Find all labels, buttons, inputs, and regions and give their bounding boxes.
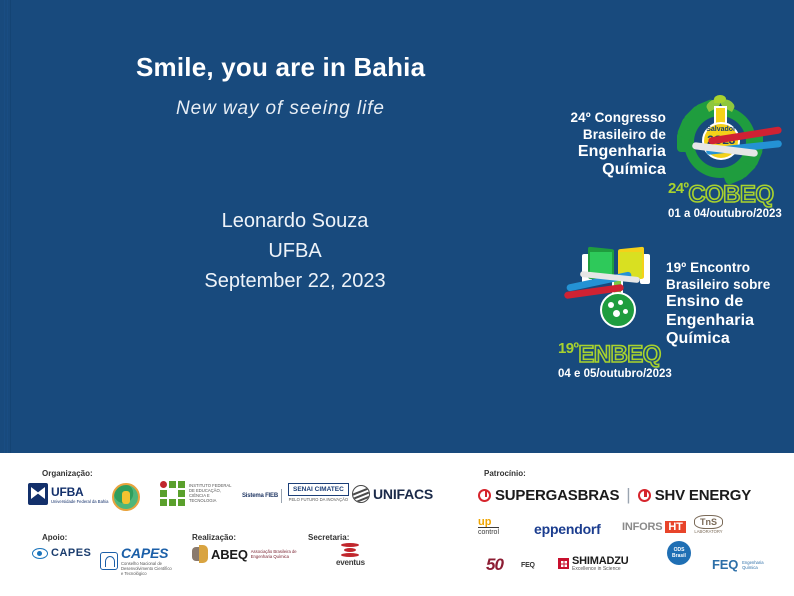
feq-50-number: 50 (486, 555, 503, 575)
author-block: Leonardo Souza UFBA September 22, 2023 (120, 206, 470, 296)
slide-subtitle: New way of seeing life (176, 98, 385, 120)
globe-logo (112, 483, 143, 511)
ifba-logo: INSTITUTO FEDERAL DE EDUCAÇÃO, CIÊNCIA E… (160, 481, 235, 505)
shv-energy-logo: SHV ENERGY (638, 487, 751, 504)
unifacs-mark-icon (352, 485, 370, 503)
eventus-logo: eventus (336, 543, 365, 567)
edge-accent-line (4, 0, 5, 453)
enbeq-name-text: 19º Encontro Brasileiro sobre Ensino de … (666, 260, 786, 349)
ods-brasil-logo: ODS Brasil (646, 541, 712, 567)
power-icon (478, 489, 491, 502)
enbeq-name-line-3: Ensino de (666, 293, 786, 312)
tns-logo-sub: LABORATORY (694, 529, 722, 534)
organizacao-label: Organização: (42, 469, 93, 478)
abeq-mark-icon (192, 545, 208, 563)
ufba-logo-sub: Universidade Federal da Bahia (51, 499, 109, 504)
enbeq-name-line-4: Engenharia (666, 312, 786, 331)
cnpq-logo: CAPES Conselho Nacional de Desenvolvimen… (100, 545, 175, 576)
globe-icon (112, 483, 140, 511)
abeq-logo-sub: Associação Brasileira de Engenharia Quím… (251, 549, 303, 559)
ufba-crest-icon (28, 483, 48, 505)
ods-circle-icon: ODS Brasil (667, 541, 691, 565)
capes-logo-text: CAPES (51, 547, 91, 559)
eventus-mark-icon (341, 543, 359, 557)
cobeq-name-line-4: Química (558, 161, 666, 179)
author-affiliation: UFBA (120, 236, 470, 266)
presentation-slide: Smile, you are in Bahia New way of seein… (0, 0, 794, 596)
cobeq-name-line-1: 24º Congresso (558, 110, 666, 127)
shimadzu-logo: SHIMADZU Excellence in Science (558, 555, 628, 572)
cnpq-logo-sub: Conselho Nacional de Desenvolvimento Cie… (121, 561, 175, 576)
supergasbras-logo: SUPERGASBRAS (478, 487, 619, 504)
cobeq-flask-gear-icon: Salvador 2O23 (666, 86, 784, 186)
eppendorf-logo-text: eppendorf (534, 521, 601, 537)
feq-unicamp-sub: Engenharia Química (742, 560, 776, 570)
author-name: Leonardo Souza (120, 206, 470, 236)
feq-unicamp-logo: FEQ Engenharia Química (712, 557, 776, 572)
up-control-text: up (478, 517, 491, 527)
edge-accent-line (7, 0, 8, 453)
cobeq-name-line-3: Engenharia (558, 143, 666, 161)
enbeq-ordinal: 19º (558, 340, 578, 357)
cnpq-logo-text: CAPES (121, 545, 175, 561)
feq-50-label: FEQ (521, 562, 535, 569)
ufba-logo-text: UFBA (51, 485, 109, 499)
bubble-icon (613, 310, 620, 317)
senai-cimatec-sub: PELO FUTURO DA INOVAÇÃO (289, 497, 349, 502)
enbeq-wordmark: 19ºENBEQ (558, 340, 661, 369)
enbeq-name-line-2: Brasileiro sobre (666, 277, 786, 294)
shimadzu-logo-sub: Excellence in Science (572, 567, 628, 572)
ifba-blocks-icon (160, 481, 186, 505)
cobeq-wordmark-text: COBEQ (688, 181, 773, 208)
senai-cimatec-logo: SENAI CIMATEC PELO FUTURO DA INOVAÇÃO (288, 483, 349, 502)
abeq-logo: ABEQ Associação Brasileira de Engenharia… (192, 545, 303, 563)
infors-ht-logo: INFORS HT (622, 521, 686, 533)
secretaria-label: Secretaria: (308, 533, 349, 542)
enbeq-logo: 19º Encontro Brasileiro sobre Ensino de … (556, 248, 784, 384)
enbeq-name-line-5: Química (666, 330, 786, 349)
abeq-logo-text: ABEQ (211, 547, 248, 562)
cobeq-ordinal: 24º (668, 180, 688, 197)
ufba-logo: UFBA Universidade Federal da Bahia (28, 483, 109, 505)
enbeq-book-flask-icon (564, 244, 676, 344)
unifacs-logo: UNIFACS (352, 485, 433, 503)
bubble-icon (618, 300, 623, 305)
infors-ht-suffix: HT (665, 521, 685, 533)
patrocinio-label: Patrocínio: (484, 469, 526, 478)
unifacs-logo-text: UNIFACS (373, 486, 433, 502)
tns-logo-text: TnS (694, 515, 723, 529)
divider (281, 489, 282, 503)
feq-50-logo: 50 FEQ (484, 555, 535, 575)
presentation-date: September 22, 2023 (120, 266, 470, 296)
cobeq-name-text: 24º Congresso Brasileiro de Engenharia Q… (558, 110, 666, 179)
ifba-logo-text: INSTITUTO FEDERAL DE EDUCAÇÃO, CIÊNCIA E… (189, 483, 235, 503)
patrocinio-divider: | (626, 485, 630, 505)
sponsor-footer: Organização: UFBA Universidade Federal d… (0, 453, 794, 596)
patrocinio-main-logos: SUPERGASBRAS | SHV ENERGY (478, 485, 751, 505)
cobeq-name-line-2: Brasileiro de (558, 127, 666, 144)
feq-unicamp-text: FEQ (712, 557, 738, 572)
tns-logo: TnS LABORATORY (694, 515, 723, 534)
bubble-icon (623, 309, 628, 314)
capes-logo: CAPES (32, 547, 91, 559)
infors-logo-text: INFORS (622, 521, 662, 533)
cnpq-mark-icon (100, 552, 118, 570)
slide-hero-background: Smile, you are in Bahia New way of seein… (0, 0, 794, 453)
sistema-fieb-text: Sistema FIEB (242, 493, 278, 499)
feq-50-anniversary-icon: 50 (484, 555, 518, 575)
up-control-sub: control (478, 527, 499, 537)
eppendorf-logo: eppendorf (534, 521, 601, 537)
eventus-logo-text: eventus (336, 558, 365, 567)
enbeq-dates: 04 e 05/outubro/2023 (558, 368, 672, 380)
cobeq-logo: 24º Congresso Brasileiro de Engenharia Q… (556, 92, 784, 222)
up-control-logo: up control (478, 517, 499, 537)
capes-eye-icon (32, 548, 48, 559)
shimadzu-mark-icon (558, 558, 569, 569)
apoio-label: Apoio: (42, 533, 67, 542)
bubble-icon (608, 302, 614, 308)
senai-cimatec-text: SENAI CIMATEC (288, 483, 349, 496)
edge-accent-line (10, 0, 11, 453)
sistema-fieb-logo: Sistema FIEB (242, 489, 282, 503)
power-icon (638, 489, 651, 502)
enbeq-wordmark-text: ENBEQ (578, 341, 660, 368)
cobeq-dates: 01 a 04/outubro/2023 (668, 208, 782, 220)
shv-energy-logo-text: SHV ENERGY (655, 487, 751, 504)
supergasbras-logo-text: SUPERGASBRAS (495, 487, 619, 504)
enbeq-name-line-1: 19º Encontro (666, 260, 786, 277)
realizacao-label: Realização: (192, 533, 236, 542)
ods-logo-sub: Brasil (672, 553, 686, 559)
slide-title: Smile, you are in Bahia (136, 52, 425, 83)
cobeq-wordmark: 24ºCOBEQ (668, 180, 773, 209)
